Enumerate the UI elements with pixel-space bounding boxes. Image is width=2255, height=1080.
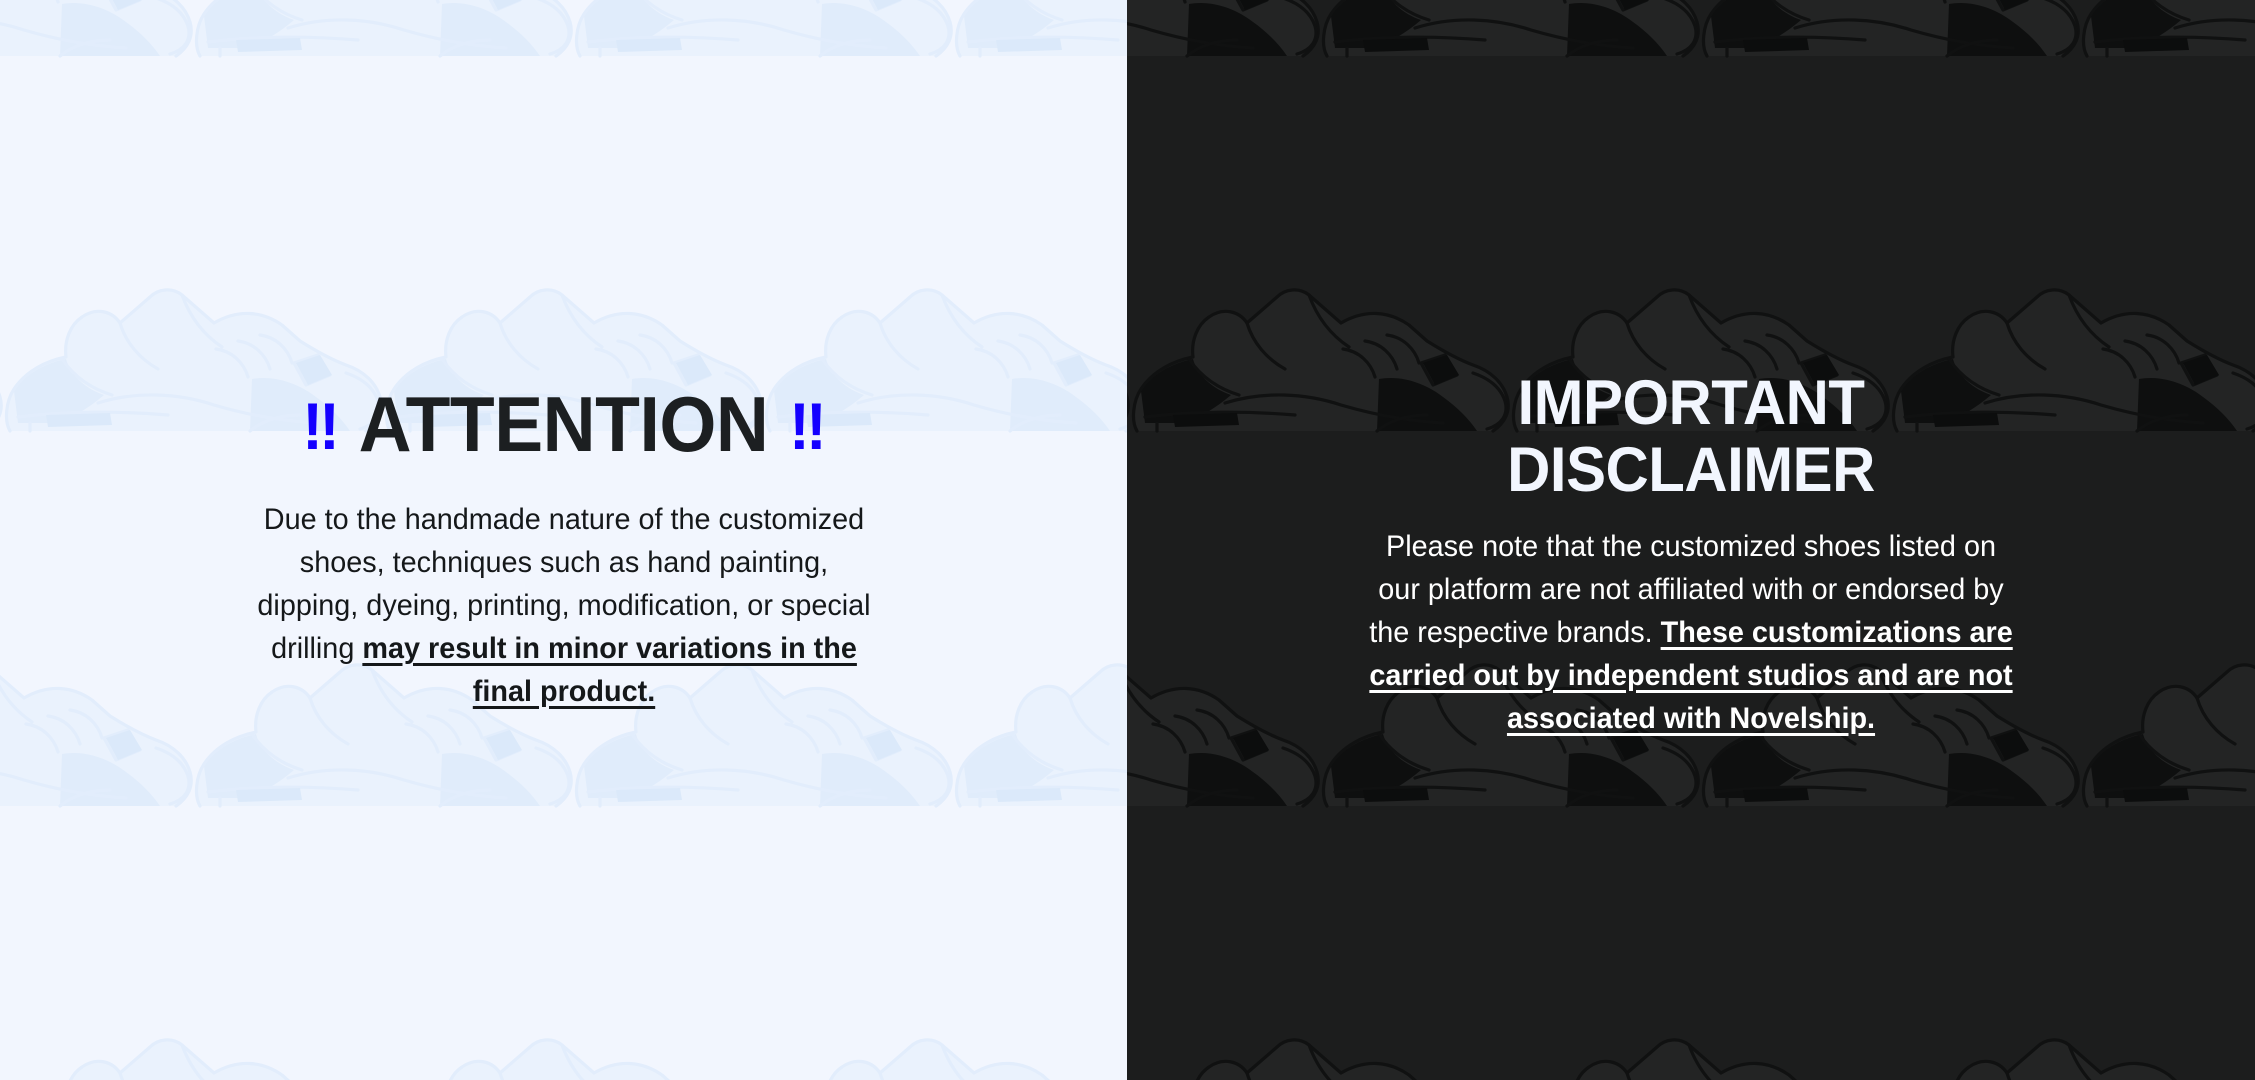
attention-body: Due to the handmade nature of the custom…	[256, 498, 870, 713]
attention-heading-text: ATTENTION	[359, 380, 769, 468]
disclaimer-banner: ‼ATTENTION‼ Due to the handmade nature o…	[0, 0, 2255, 1080]
attention-heading: ‼ATTENTION‼	[147, 385, 981, 465]
disclaimer-heading: IMPORTANT DISCLAIMER	[1288, 370, 2094, 504]
attention-content: ‼ATTENTION‼ Due to the handmade nature o…	[0, 385, 1127, 714]
attention-panel: ‼ATTENTION‼ Due to the handmade nature o…	[0, 0, 1127, 1080]
disclaimer-heading-line-2: DISCLAIMER	[1288, 437, 2094, 504]
double-exclamation-right-icon: ‼	[789, 389, 825, 463]
disclaimer-body: Please note that the customized shoes li…	[1367, 525, 2016, 740]
disclaimer-content: IMPORTANT DISCLAIMER Please note that th…	[1127, 370, 2255, 741]
disclaimer-panel: IMPORTANT DISCLAIMER Please note that th…	[1127, 0, 2255, 1080]
double-exclamation-left-icon: ‼	[302, 389, 338, 463]
disclaimer-heading-line-1: IMPORTANT	[1288, 370, 2094, 437]
attention-body-emphasis: may result in minor variations in the fi…	[362, 632, 857, 708]
